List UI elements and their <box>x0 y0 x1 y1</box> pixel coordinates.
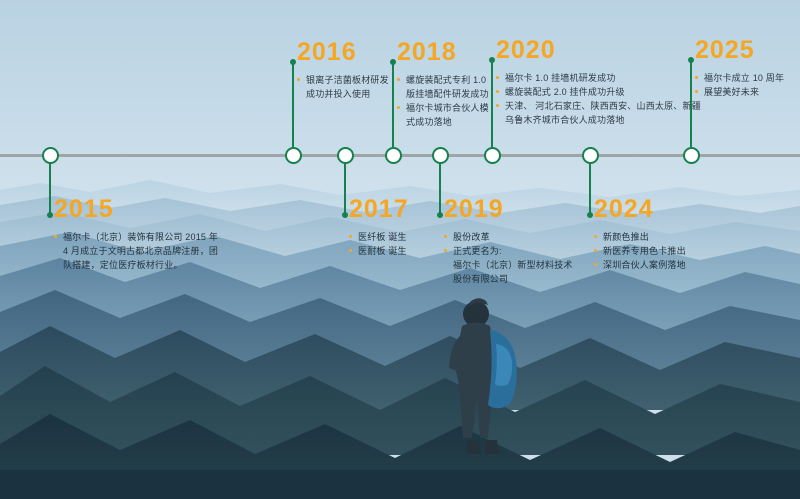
entry-bullet-line: 队搭建，定位医疗板材行业。 <box>54 258 218 272</box>
timeline: 2016银离子洁菌板材研发成功并投入使用2018螺旋装配式专利 1.0版挂墙配件… <box>0 0 800 499</box>
timeline-stem-tip <box>390 59 396 65</box>
entry-bullet-line: 螺旋装配式 2.0 挂件成功升级 <box>496 85 701 99</box>
entry-bullet-list: 股份改革正式更名为:福尔卡（北京）新型材料技术股份有限公司 <box>444 230 573 286</box>
entry-bullet-list: 福尔卡成立 10 周年展望美好未来 <box>695 71 784 99</box>
timeline-stem <box>292 62 294 147</box>
timeline-entry-2020: 2020福尔卡 1.0 挂墙机研发成功螺旋装配式 2.0 挂件成功升级天津、 河… <box>496 38 701 127</box>
entry-bullet-line: 福尔卡成立 10 周年 <box>695 71 784 85</box>
timeline-stem <box>392 62 394 147</box>
timeline-stem-tip <box>587 212 593 218</box>
entry-bullet-line: 深圳合伙人案例落地 <box>594 258 686 272</box>
entry-bullet-line: 福尔卡（北京）新型材料技术 <box>444 258 573 272</box>
timeline-stem <box>589 163 591 215</box>
entry-bullet-line: 螺旋装配式专利 1.0 <box>397 73 489 87</box>
entry-bullet-line: 新医养专用色卡推出 <box>594 244 686 258</box>
timeline-node-marker[interactable] <box>432 147 449 164</box>
entry-bullet-line: 福尔卡 1.0 挂墙机研发成功 <box>496 71 701 85</box>
entry-bullet-list: 银离子洁菌板材研发成功并投入使用 <box>297 73 389 101</box>
entry-bullet-list: 医纤板 诞生医耐板 诞生 <box>349 230 409 258</box>
entry-year-label: 2015 <box>54 197 218 222</box>
entry-bullet-line: 正式更名为: <box>444 244 573 258</box>
timeline-stem-tip <box>290 59 296 65</box>
entry-bullet-line: 天津、 河北石家庄、陕西西安、山西太原、新疆 <box>496 99 701 113</box>
timeline-stem-tip <box>489 57 495 63</box>
entry-bullet-list: 福尔卡 1.0 挂墙机研发成功螺旋装配式 2.0 挂件成功升级天津、 河北石家庄… <box>496 71 701 127</box>
entry-bullet-line: 式成功落地 <box>397 115 489 129</box>
timeline-stem-tip <box>437 212 443 218</box>
entry-bullet-line: 展望美好未来 <box>695 85 784 99</box>
entry-bullet-line: 股份改革 <box>444 230 573 244</box>
entry-bullet-line: 新颜色推出 <box>594 230 686 244</box>
timeline-node-marker[interactable] <box>385 147 402 164</box>
timeline-entry-2024: 2024新颜色推出新医养专用色卡推出深圳合伙人案例落地 <box>594 197 686 272</box>
timeline-node-marker[interactable] <box>582 147 599 164</box>
entry-bullet-line: 福尔卡（北京）装饰有限公司 2015 年 <box>54 230 218 244</box>
entry-bullet-line: 福尔卡城市合伙人模 <box>397 101 489 115</box>
timeline-node-marker[interactable] <box>683 147 700 164</box>
entry-bullet-line: 银离子洁菌板材研发 <box>297 73 389 87</box>
entry-year-label: 2017 <box>349 197 409 222</box>
timeline-node-marker[interactable] <box>484 147 501 164</box>
entry-year-label: 2025 <box>695 38 784 63</box>
entry-bullet-line: 医耐板 诞生 <box>349 244 409 258</box>
entry-bullet-list: 福尔卡（北京）装饰有限公司 2015 年4 月成立于文明古都北京品牌注册，团队搭… <box>54 230 218 272</box>
entry-bullet-line: 版挂墙配件研发成功 <box>397 87 489 101</box>
timeline-entry-2015: 2015福尔卡（北京）装饰有限公司 2015 年4 月成立于文明古都北京品牌注册… <box>54 197 218 272</box>
timeline-entry-2018: 2018螺旋装配式专利 1.0版挂墙配件研发成功福尔卡城市合伙人模式成功落地 <box>397 40 489 129</box>
entry-year-label: 2019 <box>444 197 573 222</box>
timeline-node-marker[interactable] <box>285 147 302 164</box>
entry-year-label: 2018 <box>397 40 489 65</box>
entry-bullet-line: 乌鲁木齐城市合伙人成功落地 <box>496 113 701 127</box>
entry-bullet-list: 新颜色推出新医养专用色卡推出深圳合伙人案例落地 <box>594 230 686 272</box>
timeline-node-marker[interactable] <box>337 147 354 164</box>
timeline-entry-2019: 2019股份改革正式更名为:福尔卡（北京）新型材料技术股份有限公司 <box>444 197 573 286</box>
entry-year-label: 2020 <box>496 38 701 63</box>
timeline-stem-tip <box>342 212 348 218</box>
entry-bullet-line: 4 月成立于文明古都北京品牌注册，团 <box>54 244 218 258</box>
timeline-stem-tip <box>47 212 53 218</box>
timeline-stem <box>491 60 493 147</box>
entry-bullet-list: 螺旋装配式专利 1.0版挂墙配件研发成功福尔卡城市合伙人模式成功落地 <box>397 73 489 129</box>
entry-bullet-line: 成功并投入使用 <box>297 87 389 101</box>
timeline-entry-2016: 2016银离子洁菌板材研发成功并投入使用 <box>297 40 389 101</box>
timeline-stem <box>49 163 51 215</box>
timeline-entry-2017: 2017医纤板 诞生医耐板 诞生 <box>349 197 409 258</box>
timeline-stem <box>344 163 346 215</box>
timeline-stem <box>439 163 441 215</box>
entry-year-label: 2016 <box>297 40 389 65</box>
timeline-node-marker[interactable] <box>42 147 59 164</box>
timeline-entry-2025: 2025福尔卡成立 10 周年展望美好未来 <box>695 38 784 99</box>
entry-year-label: 2024 <box>594 197 686 222</box>
entry-bullet-line: 股份有限公司 <box>444 272 573 286</box>
entry-bullet-line: 医纤板 诞生 <box>349 230 409 244</box>
